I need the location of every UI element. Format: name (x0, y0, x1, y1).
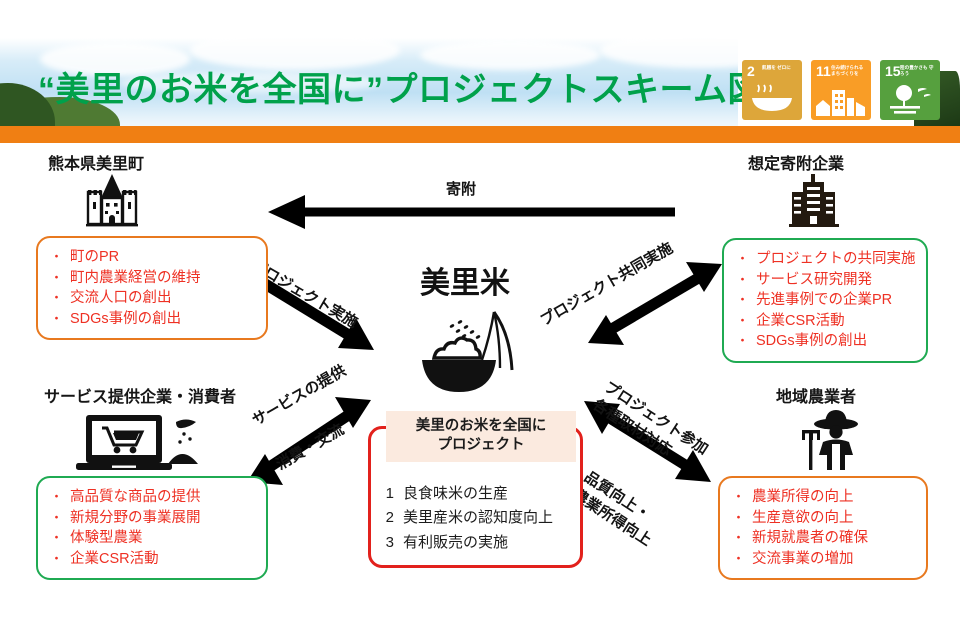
list-item: ・高品質な商品の提供 (50, 487, 256, 508)
list-item-label: 交流事業の増加 (752, 549, 854, 570)
list-item: ・交流人口の創出 (50, 288, 256, 309)
cloud-decoration (190, 38, 400, 70)
bullet-icon: ・ (736, 332, 749, 350)
bullet-icon: ・ (50, 550, 63, 568)
node-title-town: 熊本県美里町 (48, 150, 144, 174)
list-item-label: 有利販売の実施 (403, 531, 508, 555)
list-item-label: 新規就農者の確保 (752, 528, 868, 549)
list-item-label: 先進事例での企業PR (756, 290, 892, 311)
center-project-header-line2: プロジェクト (390, 436, 572, 455)
list-item-label: 体験型農業 (70, 528, 143, 549)
bullet-icon: ・ (732, 550, 745, 568)
sdg-badge-11: 11 住み続けられる まちづくりを (811, 60, 871, 120)
list-item-label: 町のPR (70, 247, 119, 268)
list-item-index: 3 (384, 531, 394, 555)
arrow-label-project-join: プロジェクト参加 各種取材対応 (589, 376, 713, 477)
bullet-icon: ・ (732, 529, 745, 547)
list-item-label: SDGs事例の創出 (70, 309, 181, 330)
office-building-icon (784, 174, 844, 228)
list-item-label: サービス研究開発 (756, 270, 872, 291)
arrow-label-donation: 寄附 (446, 178, 476, 199)
node-title-service: サービス提供企業・消費者 (44, 383, 236, 407)
sdg-number: 2 (747, 64, 755, 78)
sdg-badge-group: 2 飢餓を ゼロに 11 住み続けられる まちづくりを (742, 60, 940, 120)
page-title: “美里のお米を全国に”プロジェクトスキーム図 (38, 73, 762, 107)
list-item: 1良食味米の生産 (384, 482, 553, 506)
bullet-icon: ・ (732, 509, 745, 527)
box-farmer-benefits: ・農業所得の向上 ・生産意欲の向上 ・新規就農者の確保 ・交流事業の増加 (718, 476, 928, 580)
list-item: ・企業CSR活動 (50, 549, 256, 570)
list-item-label: 企業CSR活動 (756, 311, 845, 332)
arrow-donation (268, 195, 675, 229)
tree-bird-icon (880, 84, 940, 116)
list-item: ・生産意欲の向上 (732, 508, 916, 529)
box-service-benefits: ・高品質な商品の提供 ・新規分野の事業展開 ・体験型農業 ・企業CSR活動 (36, 476, 268, 580)
list-item-label: 企業CSR活動 (70, 549, 159, 570)
list-item: ・SDGs事例の創出 (736, 331, 916, 352)
list-item-label: 良食味米の生産 (403, 482, 508, 506)
bullet-icon: ・ (50, 289, 63, 307)
list-item-label: 農業所得の向上 (752, 487, 854, 508)
sdg-badge-2: 2 飢餓を ゼロに (742, 60, 802, 120)
sdg-caption: 飢餓を ゼロに (762, 65, 800, 71)
city-buildings-icon (811, 84, 871, 116)
bullet-icon: ・ (736, 271, 749, 289)
center-project-header: 美里のお米を全国に プロジェクト (386, 411, 576, 462)
cloud-decoration (420, 40, 600, 70)
sdg-badge-15: 15 陸の豊かさも 守ろう (880, 60, 940, 120)
list-item: ・プロジェクトの共同実施 (736, 249, 916, 270)
list-item: ・SDGs事例の創出 (50, 309, 256, 330)
list-item-index: 2 (384, 506, 394, 530)
sdg-caption: 住み続けられる まちづくりを (831, 65, 869, 76)
list-item: 3有利販売の実施 (384, 531, 553, 555)
list-item-label: 高品質な商品の提供 (70, 487, 201, 508)
bullet-icon: ・ (50, 248, 63, 266)
bullet-icon: ・ (732, 488, 745, 506)
box-town-benefits: ・町のPR ・町内農業経営の維持 ・交流人口の創出 ・SDGs事例の創出 (36, 236, 268, 340)
donor-benefit-list: ・プロジェクトの共同実施 ・サービス研究開発 ・先進事例での企業PR ・企業CS… (736, 249, 916, 352)
sdg-number: 15 (885, 64, 901, 78)
list-item: ・町のPR (50, 247, 256, 268)
laptop-cart-icon (72, 412, 202, 474)
list-item: ・サービス研究開発 (736, 270, 916, 291)
castle-icon (80, 172, 144, 228)
list-item-label: 新規分野の事業展開 (70, 508, 201, 529)
bullet-icon: ・ (736, 312, 749, 330)
center-project-list: 1良食味米の生産 2美里産米の認知度向上 3有利販売の実施 (384, 482, 553, 555)
node-title-farmer: 地域農業者 (776, 383, 856, 407)
rice-bowl-icon (408, 300, 534, 396)
center-project-header-line1: 美里のお米を全国に (390, 417, 572, 436)
list-item-label: 交流人口の創出 (70, 288, 172, 309)
list-item-index: 1 (384, 482, 394, 506)
slide-canvas: “美里のお米を全国に”プロジェクトスキーム図 2 飢餓を ゼロに 11 住み続け… (0, 0, 960, 640)
list-item: 2美里産米の認知度向上 (384, 506, 553, 530)
service-benefit-list: ・高品質な商品の提供 ・新規分野の事業展開 ・体験型農業 ・企業CSR活動 (50, 487, 256, 569)
bullet-icon: ・ (50, 509, 63, 527)
sdg-number: 11 (816, 64, 831, 78)
list-item: ・新規就農者の確保 (732, 528, 916, 549)
arrow-label-consume-exchange: 消費・交流 (272, 418, 347, 474)
bullet-icon: ・ (50, 529, 63, 547)
list-item-label: 生産意欲の向上 (752, 508, 854, 529)
list-item: ・新規分野の事業展開 (50, 508, 256, 529)
node-title-donor: 想定寄附企業 (748, 150, 844, 174)
list-item: ・先進事例での企業PR (736, 290, 916, 311)
list-item-label: 美里産米の認知度向上 (403, 506, 553, 530)
town-benefit-list: ・町のPR ・町内農業経営の維持 ・交流人口の創出 ・SDGs事例の創出 (50, 247, 256, 329)
sdg-caption: 陸の豊かさも 守ろう (900, 65, 938, 76)
list-item-label: SDGs事例の創出 (756, 331, 867, 352)
list-item: ・体験型農業 (50, 528, 256, 549)
list-item: ・町内農業経営の維持 (50, 268, 256, 289)
list-item: ・企業CSR活動 (736, 311, 916, 332)
list-item: ・交流事業の増加 (732, 549, 916, 570)
center-rice-label: 美里米 (420, 258, 510, 302)
list-item-label: 町内農業経営の維持 (70, 268, 201, 289)
bullet-icon: ・ (50, 310, 63, 328)
bullet-icon: ・ (736, 250, 749, 268)
arrow-label-quality: 品質向上・ 農業所得向上 (569, 466, 667, 550)
banner-accent-bar (0, 126, 960, 143)
farmer-icon (796, 408, 870, 470)
list-item: ・農業所得の向上 (732, 487, 916, 508)
farmer-benefit-list: ・農業所得の向上 ・生産意欲の向上 ・新規就農者の確保 ・交流事業の増加 (732, 487, 916, 569)
bullet-icon: ・ (736, 291, 749, 309)
bullet-icon: ・ (50, 269, 63, 287)
arrow-label-project-joint: プロジェクト共同実施 (536, 237, 676, 330)
box-donor-benefits: ・プロジェクトの共同実施 ・サービス研究開発 ・先進事例での企業PR ・企業CS… (722, 238, 928, 363)
bowl-steam-icon (742, 84, 802, 116)
list-item-label: プロジェクトの共同実施 (756, 249, 916, 270)
bullet-icon: ・ (50, 488, 63, 506)
